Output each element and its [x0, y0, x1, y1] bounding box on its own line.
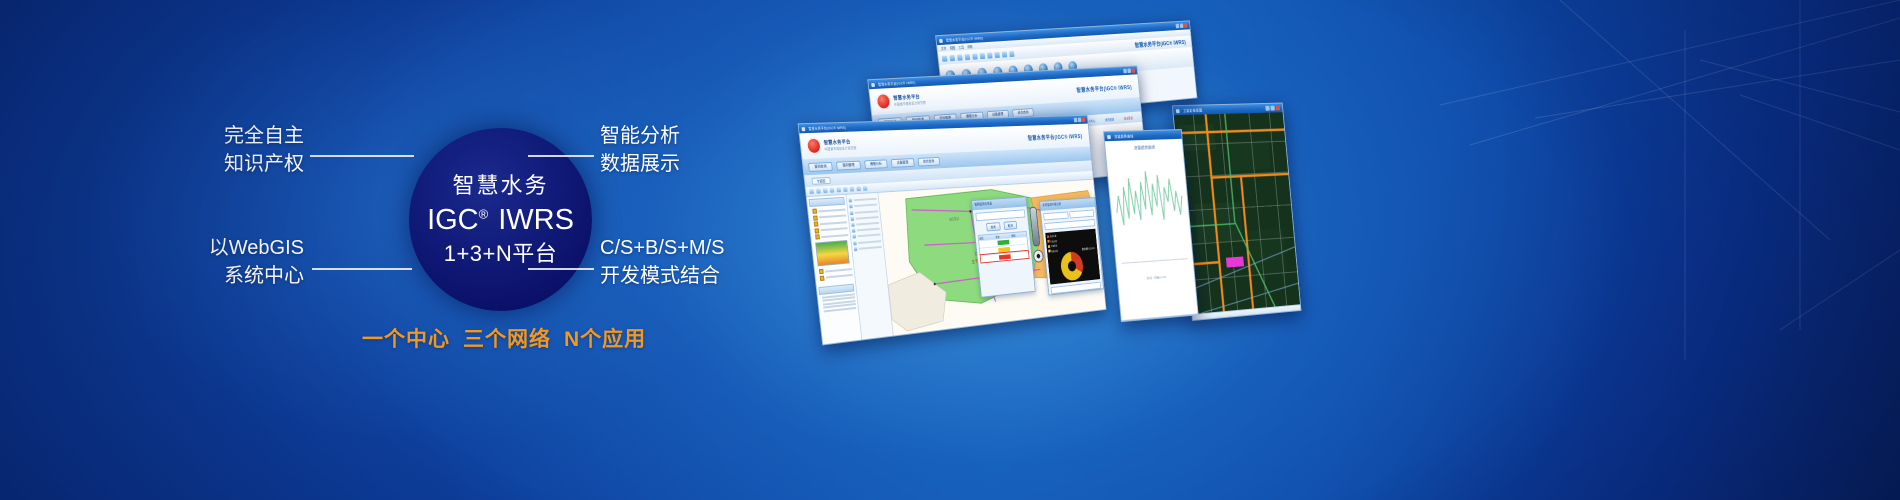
tool-row — [849, 203, 877, 209]
connector-bottom-right — [528, 268, 594, 270]
close-icon — [1275, 106, 1280, 111]
folder-icon — [814, 221, 819, 226]
zoom-icon — [965, 54, 971, 60]
menu-help[interactable]: 帮助 — [967, 44, 973, 49]
registered-icon: ® — [479, 206, 489, 221]
minimize-icon — [1265, 106, 1270, 111]
select-icon — [980, 52, 986, 58]
tool-icon — [853, 241, 857, 245]
print-icon — [957, 54, 963, 60]
tool-icon — [848, 199, 852, 203]
label-bottom-left-line2: 系统中心 — [180, 262, 304, 290]
dialog-query-button[interactable]: 查询 — [986, 222, 1001, 231]
window-title: 智慧水务平台(IGC® IWRS) — [946, 35, 984, 42]
label-bottom-right: C/S+B/S+M/S 开发模式结合 — [600, 234, 725, 291]
folder-icon — [812, 209, 817, 214]
folder-icon — [819, 269, 824, 274]
tool-row — [848, 197, 876, 203]
sub-tab-0[interactable]: 专题图 — [811, 176, 830, 184]
connector-top-right — [528, 155, 594, 157]
window-controls[interactable] — [1074, 118, 1086, 123]
label-top-right-line2: 数据展示 — [600, 150, 680, 178]
brand-subtitle: 中国城市规划设计研究院 — [824, 145, 857, 151]
circle-line-1: 智慧水务 — [452, 175, 548, 197]
dialog-title: 实时监测平衡分析 — [1040, 198, 1095, 211]
close-icon — [1082, 118, 1086, 123]
refresh-icon — [1009, 51, 1014, 57]
user-link-4[interactable]: 退出登录 — [1120, 115, 1136, 121]
nav-tab-0[interactable]: 管网查询 — [808, 161, 833, 171]
legend-0: 总供水量 — [1050, 234, 1057, 238]
user-link-3[interactable]: 修改密码 — [1101, 116, 1118, 122]
window-title: 智慧水务平台(IGC® IWRS) — [808, 125, 846, 131]
app-title: 智慧水务平台(IGC® IWRS) — [1027, 131, 1082, 141]
tool-row — [854, 245, 882, 251]
app-icon — [1107, 135, 1111, 139]
maximize-icon — [1270, 106, 1275, 111]
tool-icon — [852, 229, 856, 233]
svg-text:加压泵站: 加压泵站 — [949, 216, 960, 222]
tree-item — [820, 272, 853, 280]
layer-tree-header — [809, 197, 845, 207]
window-controls[interactable] — [1265, 106, 1280, 111]
trend-chart — [1108, 152, 1192, 274]
brand-subtitle: 中国城市规划设计研究院 — [894, 100, 926, 107]
close-icon — [1131, 68, 1135, 73]
label-bottom-left: 以WebGIS 系统中心 — [180, 234, 304, 291]
logo-icon — [876, 93, 891, 110]
app-icon — [801, 127, 805, 131]
tree-item — [815, 232, 848, 239]
circle-line-2: IGC®IWRS — [427, 206, 574, 235]
menu-file[interactable]: 文件 — [941, 46, 947, 51]
tool-row — [850, 215, 878, 221]
donut-chart — [1055, 245, 1089, 287]
connector-top-left — [310, 155, 414, 157]
tagline-part-1: 一个中心 — [362, 328, 450, 351]
app-icon — [871, 82, 875, 86]
folder-icon — [814, 228, 819, 233]
tool-icon — [854, 247, 858, 251]
pan-icon — [972, 53, 978, 59]
zoom-out-icon — [823, 188, 828, 193]
highlight-area — [1226, 256, 1244, 267]
dialog-input[interactable] — [975, 209, 1025, 221]
app-icon — [939, 38, 943, 42]
nav-tab-4[interactable]: 综合查询 — [917, 156, 940, 166]
folder-icon — [815, 234, 820, 239]
window-title: 流量趋势曲线 — [1114, 133, 1134, 139]
circle-iwrs: IWRS — [498, 204, 574, 236]
dialog-cancel-button[interactable]: 取消 — [1003, 221, 1017, 230]
connector-bottom-left — [312, 268, 412, 270]
window-front-gis[interactable]: 智慧水务平台(IGC® IWRS) 智慧水务平台 中国城市规划设计研究院 智慧水… — [798, 115, 1107, 346]
tool-row — [852, 227, 880, 233]
window-controls[interactable] — [1123, 68, 1135, 73]
tool-icon — [850, 217, 854, 221]
query-icon — [1002, 51, 1007, 57]
brand-name: 智慧水务平台 中国城市规划设计研究院 — [893, 93, 926, 107]
tool-icon — [850, 211, 854, 215]
measure-icon — [850, 186, 855, 191]
tagline-part-2: 三个网络 — [463, 328, 551, 351]
measure-icon — [987, 52, 993, 58]
label-bottom-right-line1: C/S+B/S+M/S — [600, 234, 725, 262]
layer-icon — [863, 186, 868, 191]
pan-compass-icon[interactable] — [1033, 249, 1044, 262]
app-icon — [1176, 109, 1180, 113]
label-top-right-line1: 智能分析 — [600, 122, 680, 150]
window-dialog-monitor[interactable]: 管网监测点信息 查询 取消 编号 状态 数值 — [971, 196, 1036, 297]
zoom-in-icon — [816, 188, 821, 193]
window-dialog-chart[interactable]: 实时监测平衡分析 总供水量 有效水量 计量损失 漏损水量 — [1039, 197, 1104, 295]
label-bottom-left-line1: 以WebGIS — [180, 234, 304, 262]
label-top-left-line2: 知识产权 — [184, 150, 304, 178]
label-top-left-line1: 完全自主 — [184, 122, 304, 150]
label-top-right: 智能分析 数据展示 — [600, 122, 680, 179]
gis-body: 供水分区示意 主干管线标注 加压泵站 调蓄池 监测点群 管网监测点信息 — [807, 180, 1106, 346]
window-controls[interactable] — [1176, 23, 1188, 28]
legend-1: 有效水量 — [1050, 239, 1057, 243]
circle-line-3: 1+3+N平台 — [444, 243, 558, 265]
dialog-title: 管网监测点信息 — [972, 197, 1026, 210]
logo-icon — [806, 138, 821, 154]
tool-row — [852, 233, 880, 239]
save-icon — [949, 55, 955, 61]
tool-icon — [851, 223, 855, 227]
select-icon — [836, 187, 841, 192]
menu-view[interactable]: 视图 — [949, 45, 955, 50]
app-title: 智慧水务平台(IGC® IWRS) — [1076, 82, 1132, 93]
status-badge — [999, 254, 1011, 260]
identify-icon — [843, 187, 848, 192]
chart-axis-label: 时间 / 流量(m³/h) — [1119, 273, 1192, 282]
open-icon — [942, 55, 948, 61]
label-bottom-right-line2: 开发模式结合 — [600, 262, 725, 290]
tool-row — [850, 209, 878, 215]
hero-diagram: 智慧水务 IGC®IWRS 1+3+N平台 完全自主 知识产权 智能分析 数据展… — [0, 0, 800, 500]
legend-ramp — [815, 240, 850, 266]
tool-row — [851, 221, 879, 227]
nav-tab-3[interactable]: 设备管理 — [891, 158, 914, 168]
layer-icon — [994, 51, 1000, 57]
filter-select[interactable] — [1043, 211, 1068, 220]
print-icon — [856, 186, 861, 191]
folder-icon — [820, 275, 825, 280]
window-title: 智慧水务平台(IGC® IWRS) — [878, 80, 916, 87]
gis-map-canvas[interactable]: 供水分区示意 主干管线标注 加压泵站 调蓄池 监测点群 管网监测点信息 — [878, 180, 1106, 337]
tool-icon — [852, 235, 856, 239]
chart-title: 流量趋势曲线 — [1107, 144, 1181, 152]
brand-name: 智慧水务平台 中国城市规划设计研究院 — [823, 138, 856, 151]
menu-tools[interactable]: 工具 — [958, 44, 964, 49]
circle-igc: IGC — [427, 204, 479, 236]
tool-row — [853, 239, 881, 245]
nav-tab-2[interactable]: 爆管分析 — [864, 159, 888, 169]
pie-chart-panel: 总供水量 有效水量 计量损失 漏损水量 供水量 512.23 — [1045, 229, 1100, 285]
label-top-left: 完全自主 知识产权 — [184, 122, 304, 179]
dialog-table[interactable]: 编号 状态 数值 — [978, 231, 1030, 264]
date-select[interactable] — [1069, 210, 1094, 219]
screenshot-cluster: 卫星影像底图 — [790, 35, 1550, 365]
window-chart-trend[interactable]: 流量趋势曲线 流量趋势曲线 时间 / 流量(m³/h) — [1103, 129, 1199, 322]
folder-icon — [813, 215, 818, 220]
tool-icon — [849, 205, 853, 209]
window-title: 卫星影像底图 — [1183, 107, 1203, 112]
tagline-part-3: N个应用 — [564, 328, 646, 351]
close-icon — [1184, 23, 1188, 28]
banner-stage: 智慧水务 IGC®IWRS 1+3+N平台 完全自主 知识产权 智能分析 数据展… — [0, 0, 1900, 500]
tagline: 一个中心三个网络N个应用 — [362, 323, 646, 353]
full-extent-icon — [830, 188, 835, 193]
pan-icon — [809, 189, 814, 194]
nav-tab-1[interactable]: 管网管理 — [836, 160, 860, 170]
